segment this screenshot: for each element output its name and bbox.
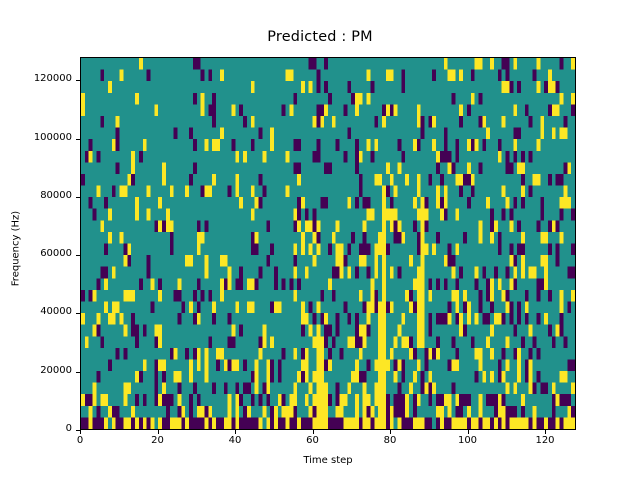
y-tick-mark xyxy=(76,139,80,140)
y-tick-label: 60000 xyxy=(4,248,72,259)
y-tick-mark xyxy=(76,80,80,81)
x-tick-mark xyxy=(235,430,236,434)
heatmap-image xyxy=(81,58,575,429)
x-tick-label: 20 xyxy=(128,435,188,446)
matplotlib-figure: Predicted : PM Frequency (Hz) 0200004000… xyxy=(0,0,640,480)
x-axis-label: Time step xyxy=(80,455,576,466)
x-tick-mark xyxy=(545,430,546,434)
y-tick-label: 80000 xyxy=(4,190,72,201)
heatmap-axes xyxy=(80,57,576,430)
x-tick-label: 60 xyxy=(283,435,343,446)
x-tick-mark xyxy=(158,430,159,434)
heatmap-canvas xyxy=(81,58,575,429)
x-tick-label: 100 xyxy=(438,435,498,446)
y-tick-mark xyxy=(76,372,80,373)
x-tick-label: 40 xyxy=(205,435,265,446)
x-tick-label: 80 xyxy=(360,435,420,446)
x-tick-label: 120 xyxy=(515,435,575,446)
y-tick-label: 0 xyxy=(4,423,72,434)
y-tick-mark xyxy=(76,197,80,198)
y-tick-mark xyxy=(76,255,80,256)
y-tick-label: 20000 xyxy=(4,365,72,376)
x-tick-mark xyxy=(390,430,391,434)
chart-title: Predicted : PM xyxy=(0,29,640,45)
x-tick-label: 0 xyxy=(50,435,110,446)
x-tick-mark xyxy=(468,430,469,434)
y-tick-label: 120000 xyxy=(4,73,72,84)
y-tick-label: 40000 xyxy=(4,306,72,317)
x-tick-mark xyxy=(80,430,81,434)
y-tick-mark xyxy=(76,313,80,314)
y-tick-mark xyxy=(76,430,80,431)
y-tick-label: 100000 xyxy=(4,132,72,143)
x-tick-mark xyxy=(313,430,314,434)
